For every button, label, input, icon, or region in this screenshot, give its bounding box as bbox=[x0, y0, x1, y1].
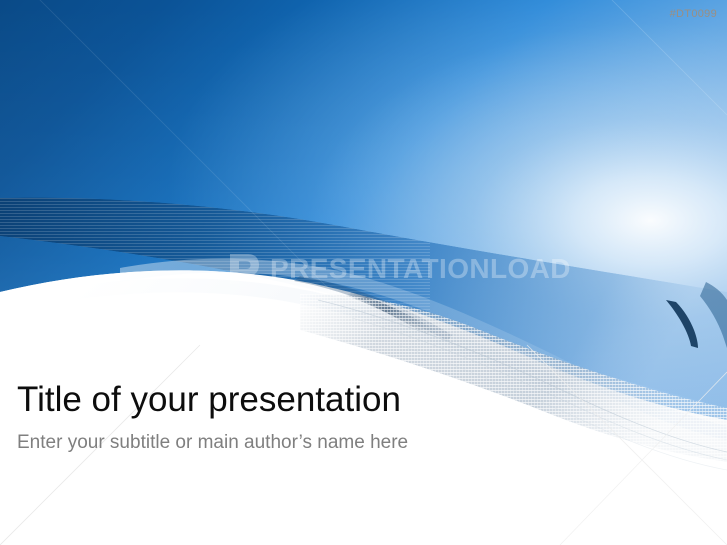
background-artwork bbox=[0, 0, 727, 545]
template-code-tag: #DT0099 bbox=[670, 8, 717, 20]
title-slide: PRESENTATIONLOAD #DT0099 Title of your p… bbox=[0, 0, 727, 545]
page-title[interactable]: Title of your presentation bbox=[17, 378, 707, 422]
page-subtitle[interactable]: Enter your subtitle or main author’s nam… bbox=[17, 430, 707, 456]
title-text-block: Title of your presentation Enter your su… bbox=[17, 378, 707, 456]
